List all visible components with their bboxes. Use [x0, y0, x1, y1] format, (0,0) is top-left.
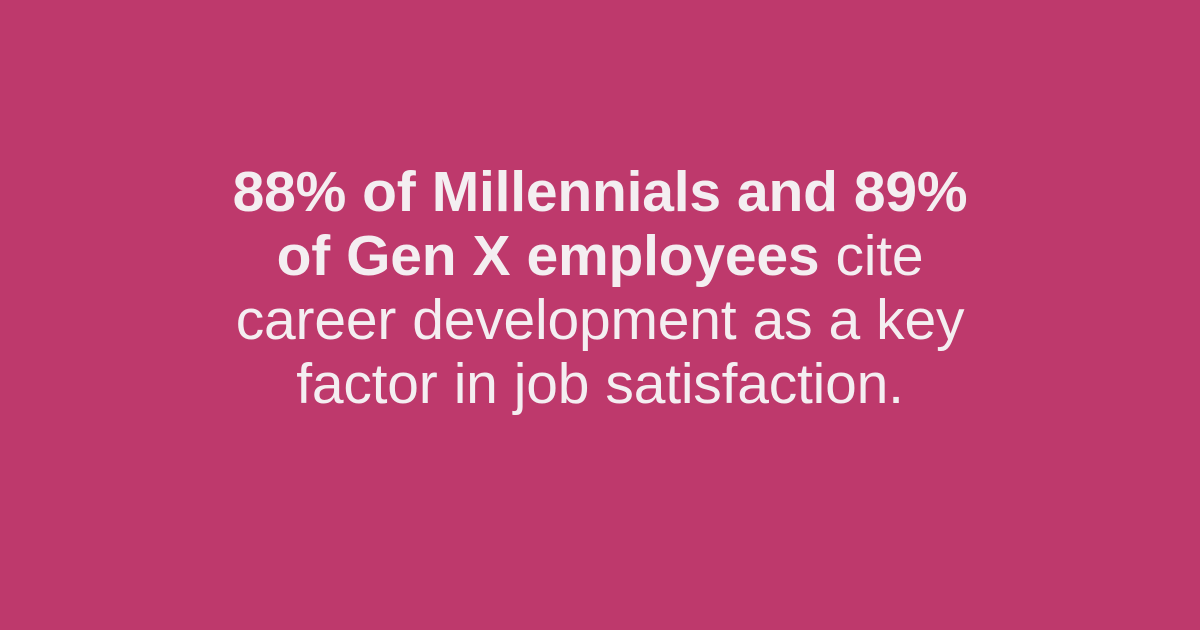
statistic-statement: 88% of Millennials and 89% of Gen X empl…	[210, 160, 990, 416]
statistic-quote-card: 88% of Millennials and 89% of Gen X empl…	[0, 0, 1200, 630]
